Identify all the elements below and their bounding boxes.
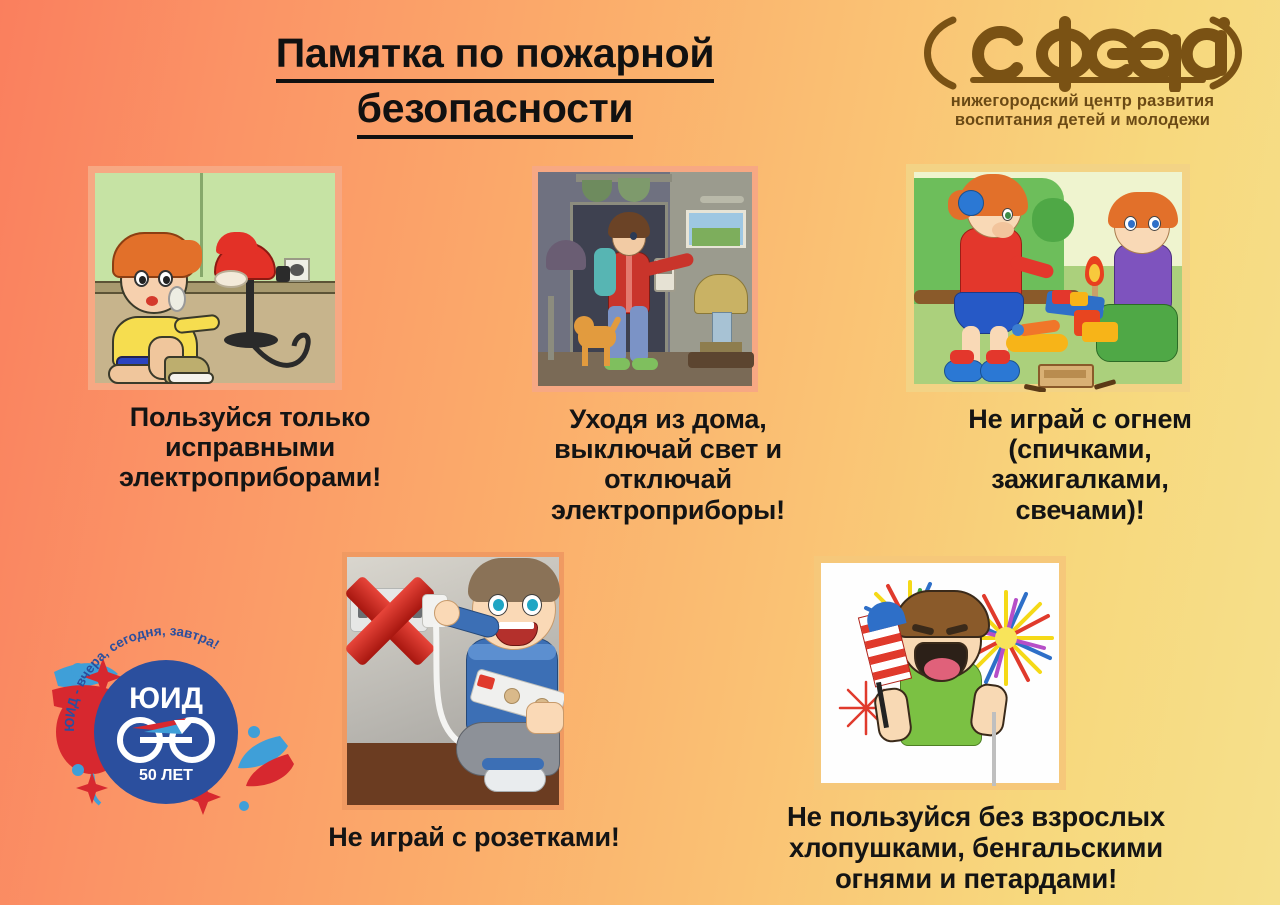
illustration-leaving-home [532, 166, 758, 392]
illustration-boy-with-lamp [88, 166, 342, 390]
page-title-line-1: Памятка по пожарной [276, 28, 715, 83]
safety-card-do-not-play-with-sockets: Не играй с розетками! [262, 552, 686, 852]
caption-card-5: Не пользуйся без взрослых хлопушками, бе… [686, 802, 1266, 894]
page-title: Памятка по пожарной безопасности [175, 28, 815, 139]
illustration-boy-with-fireworks [814, 556, 1066, 790]
safety-card-do-not-play-with-fire: Не играй с огнем (спичками, зажигалками,… [880, 164, 1280, 525]
caption-card-2: Уходя из дома, выключай свет и отключай … [462, 404, 874, 525]
safety-card-fireworks: Не пользуйся без взрослых хлопушками, бе… [686, 556, 1266, 894]
caption-card-3: Не играй с огнем (спичками, зажигалками,… [880, 404, 1280, 525]
illustration-children-with-matches [906, 164, 1190, 392]
safety-card-electric-appliances: Пользуйся только исправными электроприбо… [40, 166, 460, 493]
caption-card-1: Пользуйся только исправными электроприбо… [40, 402, 460, 493]
logo-subtitle-line-1: нижегородский центр развития [905, 92, 1260, 111]
caption-card-4: Не играй с розетками! [262, 822, 686, 852]
uid-years: 50 ЛЕТ [139, 767, 193, 784]
sfera-wordmark-icon [905, 14, 1260, 92]
logo-subtitle-line-2: воспитания детей и молодежи [905, 111, 1260, 130]
page-title-line-2: безопасности [357, 83, 634, 138]
fire-safety-poster: Памятка по пожарной безопасности [0, 0, 1280, 905]
sfera-logo: нижегородский центр развития воспитания … [905, 14, 1260, 130]
illustration-boy-with-power-strip [342, 552, 564, 810]
safety-card-turn-off-when-leaving: Уходя из дома, выключай свет и отключай … [462, 166, 874, 525]
uid-name: ЮИД [129, 682, 203, 715]
uid-emblem: ЮИД - вчера, сегодня, завтра! ЮИД 50 ЛЕТ [48, 628, 298, 838]
